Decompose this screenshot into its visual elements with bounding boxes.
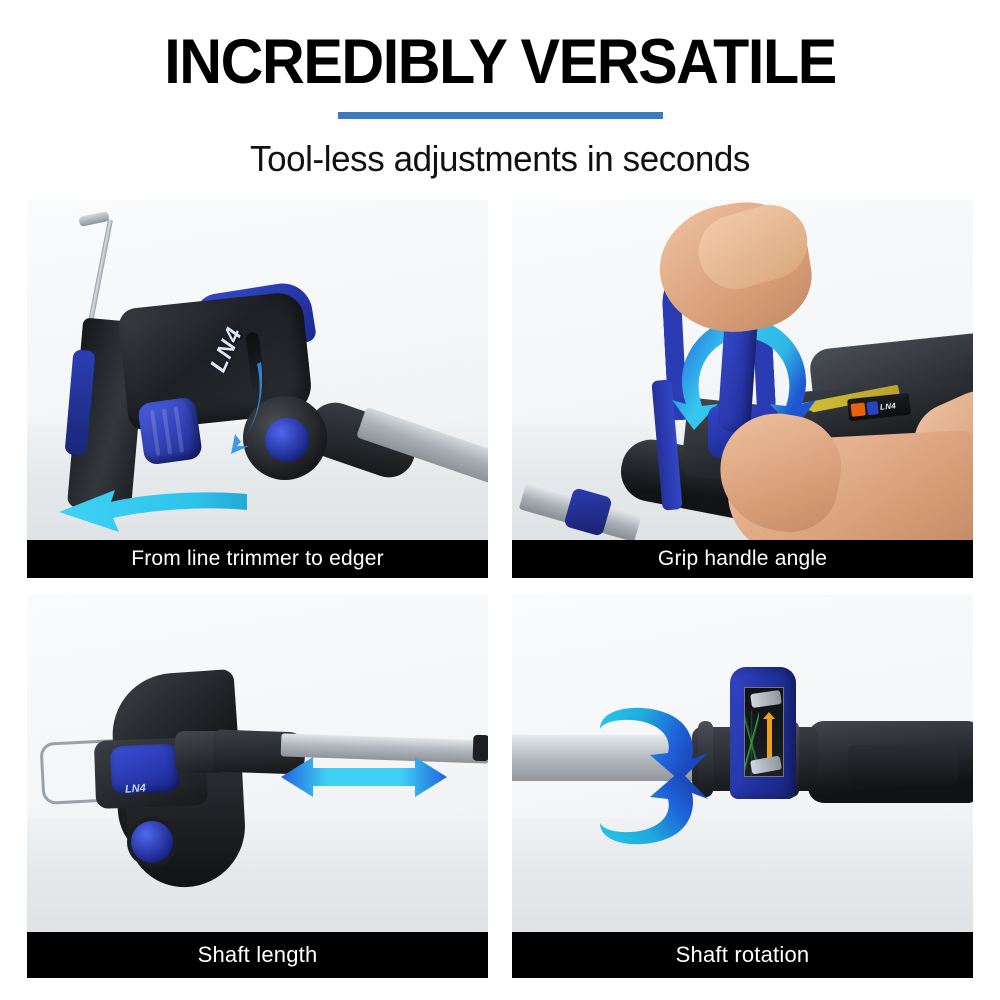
panel-1-caption: From line trimmer to edger — [27, 540, 488, 578]
arrow-head-up — [763, 712, 775, 719]
header-block: INCREDIBLY VERSATILE Tool-less adjustmen… — [0, 0, 1000, 180]
pivot-joint-cap — [265, 418, 309, 462]
rotation-arrow-cylindrical-icon — [592, 701, 752, 851]
badge-orange-block — [850, 402, 865, 416]
allen-key-head — [78, 211, 109, 227]
badge-blue-block — [866, 401, 878, 415]
floor-surface — [27, 817, 488, 932]
length-adjust-arrow-icon — [279, 753, 449, 801]
page-subtitle: Tool-less adjustments in seconds — [15, 138, 985, 180]
panel-3-photo: LN4 — [27, 595, 488, 932]
adjustment-knob — [137, 396, 203, 465]
panel-2-photo: LN4 20V — [512, 200, 973, 540]
feature-panel-grid: LN4 — [27, 200, 973, 978]
accent-divider — [338, 112, 663, 119]
panel-grip-handle-angle: LN4 20V — [512, 200, 973, 578]
panel-4-photo — [512, 595, 973, 932]
panel-3-caption: Shaft length — [27, 932, 488, 978]
sticker-tool-top-icon — [750, 690, 782, 708]
divider-wrapper — [0, 112, 1000, 119]
knob-ridge — [162, 408, 172, 454]
badge-text: LN4 — [880, 401, 897, 412]
panel-line-trimmer-to-edger: LN4 — [27, 200, 488, 578]
shaft-end-cap — [473, 735, 488, 762]
panel-shaft-length: LN4 Shaft length — [27, 595, 488, 978]
rotation-arrow-small-icon — [213, 358, 267, 454]
edge-guide-wheel — [131, 821, 173, 863]
panel-2-caption: Grip handle angle — [512, 540, 973, 578]
grip-pad — [848, 745, 958, 785]
page-title: INCREDIBLY VERSATILE — [30, 30, 970, 94]
panel-shaft-rotation: Shaft rotation — [512, 595, 973, 978]
brand-logo-text: LN4 — [125, 782, 147, 795]
knob-ridge — [150, 410, 160, 456]
panel-1-photo: LN4 — [27, 200, 488, 540]
knob-ridge — [174, 407, 184, 453]
rotation-arrow-large-icon — [49, 488, 249, 540]
sticker-direction-arrow-icon — [767, 718, 772, 762]
panel-4-caption: Shaft rotation — [512, 932, 973, 978]
